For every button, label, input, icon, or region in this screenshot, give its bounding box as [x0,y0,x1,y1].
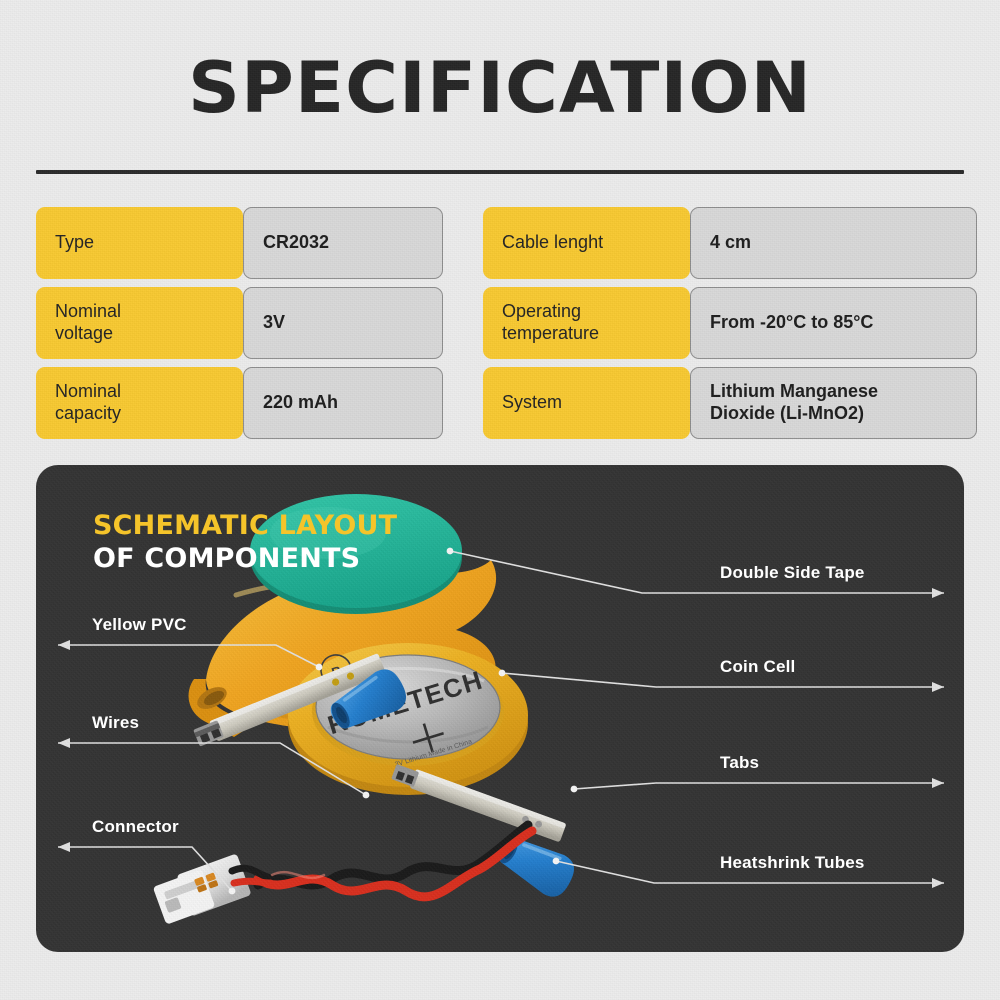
spec-value-nominal-capacity-text: 220 mAh [263,392,338,414]
spec-value-operating-temperature: From -20°C to 85°C [690,287,977,359]
spec-label-system-text: System [502,392,562,414]
callout-label-connector: Connector [92,817,179,837]
callout-label-wires: Wires [92,713,139,733]
spec-value-nominal-voltage: 3V [243,287,443,359]
arrowhead-wires [58,738,70,748]
arrowhead-connector [58,842,70,852]
callout-label-tabs: Tabs [720,753,759,773]
spec-value-nominal-capacity: 220 mAh [243,367,443,439]
leader-dot-coin-cell [499,670,506,677]
table-column-gap [443,367,483,439]
spec-label-type-text: Type [55,232,94,254]
leader-line-yellow-pvc [58,645,319,667]
spec-label-nominal-capacity: Nominal capacity [36,367,243,439]
leader-dot-yellow-pvc [316,664,323,671]
spec-value-system: Lithium Manganese Dioxide (Li-MnO2) [690,367,977,439]
callout-label-coin-cell: Coin Cell [720,657,795,677]
spec-label-operating-temperature-line2: temperature [502,323,599,343]
spec-label-nominal-capacity-line1: Nominal [55,381,121,401]
table-column-gap [443,287,483,359]
leader-line-tabs [574,783,944,789]
leader-dot-connector [229,888,236,895]
arrowhead-heatshrink-tubes [932,878,944,888]
leader-dot-tabs [571,786,578,793]
spec-value-nominal-voltage-text: 3V [263,312,285,334]
leader-dot-heatshrink-tubes [553,858,560,865]
spec-value-system-line2: Dioxide (Li-MnO2) [710,403,864,423]
spec-label-cable-length: Cable lenght [483,207,690,279]
specification-table: Type CR2032 Cable lenght 4 cm Nominal vo… [36,207,964,439]
spec-label-operating-temperature-line1: Operating [502,301,581,321]
leader-line-double-side-tape [450,551,944,593]
spec-value-type: CR2032 [243,207,443,279]
schematic-panel: ROMETECH 3V Lithium Made in China R [36,465,964,952]
leader-line-wires [58,743,366,795]
spec-label-system: System [483,367,690,439]
leader-dot-wires [363,792,370,799]
arrowhead-yellow-pvc [58,640,70,650]
spec-label-nominal-voltage-line1: Nominal [55,301,121,321]
spec-label-operating-temperature: Operating temperature [483,287,690,359]
leader-dot-double-side-tape [447,548,454,555]
header: SPECIFICATION [0,0,1000,174]
spec-label-nominal-voltage: Nominal voltage [36,287,243,359]
arrowhead-double-side-tape [932,588,944,598]
arrowhead-tabs [932,778,944,788]
title-divider [36,170,964,174]
spec-label-type: Type [36,207,243,279]
page-title: SPECIFICATION [0,52,1000,124]
callout-label-heatshrink-tubes: Heatshrink Tubes [720,853,865,873]
schematic-heading-line1: SCHEMATIC LAYOUT [93,510,397,542]
spec-value-cable-length-text: 4 cm [710,232,751,254]
leader-line-connector [58,847,232,891]
spec-value-system-line1: Lithium Manganese [710,381,878,401]
callout-label-yellow-pvc: Yellow PVC [92,615,187,635]
callout-label-double-side-tape: Double Side Tape [720,563,865,583]
schematic-heading-line2: OF COMPONENTS [93,542,397,576]
arrowhead-coin-cell [932,682,944,692]
spec-label-cable-length-text: Cable lenght [502,232,603,254]
spec-value-cable-length: 4 cm [690,207,977,279]
spec-value-type-text: CR2032 [263,232,329,254]
schematic-heading: SCHEMATIC LAYOUT OF COMPONENTS [93,510,397,576]
spec-value-operating-temperature-text: From -20°C to 85°C [710,312,873,334]
spec-label-nominal-capacity-line2: capacity [55,403,121,423]
spec-label-nominal-voltage-line2: voltage [55,323,113,343]
table-column-gap [443,207,483,279]
